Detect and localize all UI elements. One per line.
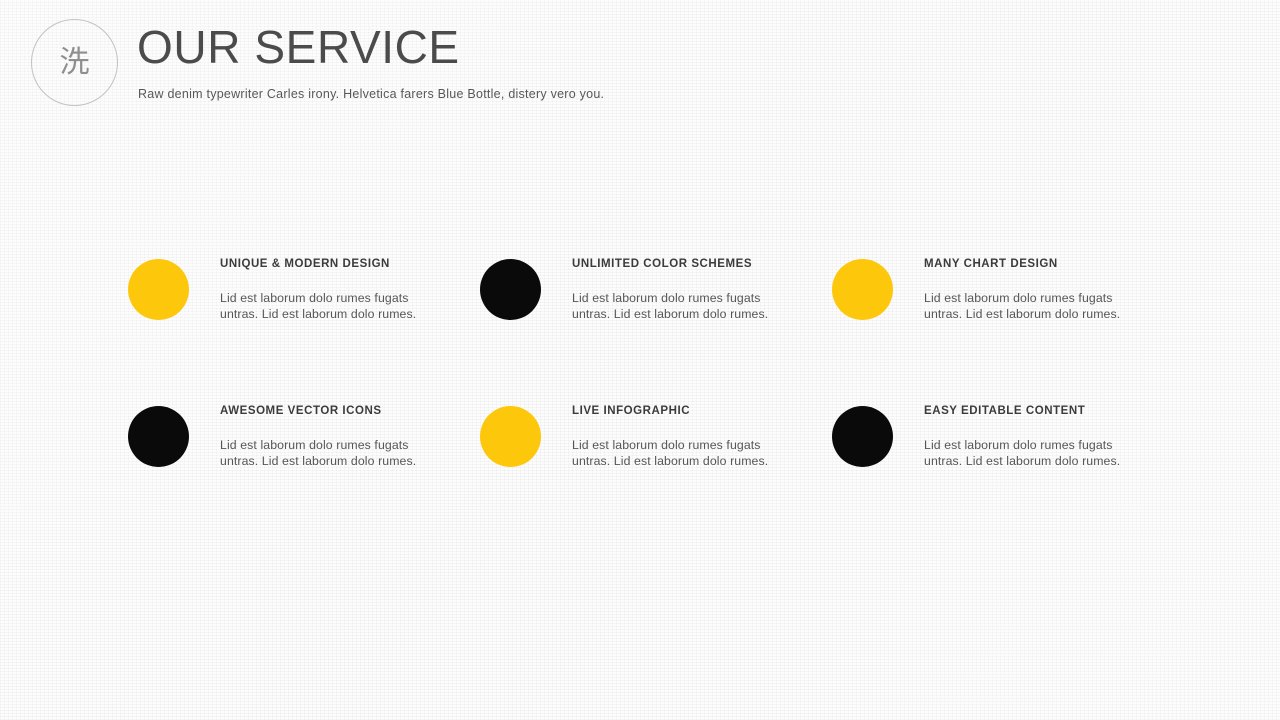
logo-glyph: 洗	[60, 48, 90, 78]
feature-title: UNLIMITED COLOR SCHEMES	[572, 259, 832, 271]
feature-text-line: untras. Lid est laborum dolo rumes.	[924, 306, 1152, 322]
feature-body: AWESOME VECTOR ICONS Lid est laborum dol…	[189, 406, 480, 469]
feature-text-line: untras. Lid est laborum dolo rumes.	[572, 453, 802, 469]
feature-item: UNIQUE & MODERN DESIGN Lid est laborum d…	[128, 259, 480, 322]
feature-text: Lid est laborum dolo rumes fugats untras…	[572, 290, 802, 323]
feature-title: EASY EDITABLE CONTENT	[924, 406, 1152, 418]
feature-text-line: Lid est laborum dolo rumes fugats	[924, 437, 1152, 453]
circle-logo-icon: 洗	[31, 19, 118, 106]
feature-item: UNLIMITED COLOR SCHEMES Lid est laborum …	[480, 259, 832, 322]
feature-text-line: untras. Lid est laborum dolo rumes.	[220, 453, 450, 469]
feature-text-line: Lid est laborum dolo rumes fugats	[572, 290, 802, 306]
feature-text-line: untras. Lid est laborum dolo rumes.	[924, 453, 1152, 469]
feature-bullet-black	[128, 406, 189, 467]
feature-title: AWESOME VECTOR ICONS	[220, 406, 480, 418]
feature-text-line: untras. Lid est laborum dolo rumes.	[572, 306, 802, 322]
feature-title: UNIQUE & MODERN DESIGN	[220, 259, 480, 271]
feature-text-line: Lid est laborum dolo rumes fugats	[220, 437, 450, 453]
feature-bullet-yellow	[128, 259, 189, 320]
feature-text-line: Lid est laborum dolo rumes fugats	[572, 437, 802, 453]
feature-bullet-yellow	[480, 406, 541, 467]
page-title: OUR SERVICE	[137, 22, 460, 73]
feature-grid: UNIQUE & MODERN DESIGN Lid est laborum d…	[128, 259, 1152, 470]
feature-body: LIVE INFOGRAPHIC Lid est laborum dolo ru…	[541, 406, 832, 469]
feature-text-line: Lid est laborum dolo rumes fugats	[924, 290, 1152, 306]
feature-item: LIVE INFOGRAPHIC Lid est laborum dolo ru…	[480, 406, 832, 469]
slide-header: 洗 OUR SERVICE Raw denim typewriter Carle…	[0, 0, 1280, 120]
feature-title: LIVE INFOGRAPHIC	[572, 406, 832, 418]
feature-text-line: untras. Lid est laborum dolo rumes.	[220, 306, 450, 322]
feature-text-line: Lid est laborum dolo rumes fugats	[220, 290, 450, 306]
feature-body: UNLIMITED COLOR SCHEMES Lid est laborum …	[541, 259, 832, 322]
feature-body: UNIQUE & MODERN DESIGN Lid est laborum d…	[189, 259, 480, 322]
feature-bullet-black	[480, 259, 541, 320]
feature-item: MANY CHART DESIGN Lid est laborum dolo r…	[832, 259, 1152, 322]
feature-item: AWESOME VECTOR ICONS Lid est laborum dol…	[128, 406, 480, 469]
feature-text: Lid est laborum dolo rumes fugats untras…	[572, 437, 802, 470]
feature-text: Lid est laborum dolo rumes fugats untras…	[220, 437, 450, 470]
feature-bullet-black	[832, 406, 893, 467]
slide-canvas: 洗 OUR SERVICE Raw denim typewriter Carle…	[0, 0, 1280, 720]
feature-body: MANY CHART DESIGN Lid est laborum dolo r…	[893, 259, 1152, 322]
feature-title: MANY CHART DESIGN	[924, 259, 1152, 271]
feature-text: Lid est laborum dolo rumes fugats untras…	[220, 290, 450, 323]
feature-text: Lid est laborum dolo rumes fugats untras…	[924, 437, 1152, 470]
feature-item: EASY EDITABLE CONTENT Lid est laborum do…	[832, 406, 1152, 469]
feature-bullet-yellow	[832, 259, 893, 320]
page-subtitle: Raw denim typewriter Carles irony. Helve…	[138, 87, 604, 101]
feature-text: Lid est laborum dolo rumes fugats untras…	[924, 290, 1152, 323]
feature-body: EASY EDITABLE CONTENT Lid est laborum do…	[893, 406, 1152, 469]
